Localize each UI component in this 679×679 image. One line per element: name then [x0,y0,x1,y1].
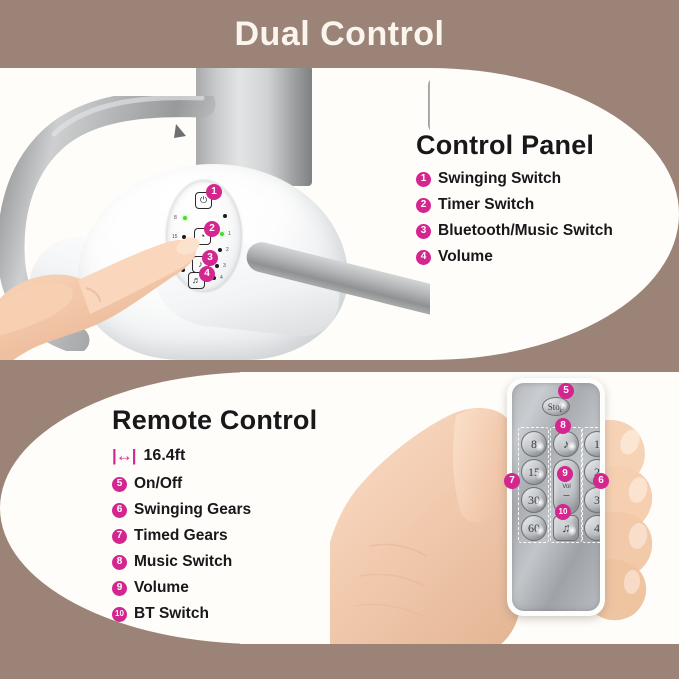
list-item: 4 Volume [416,248,613,266]
button-gloss [536,525,544,536]
timer-button-8[interactable]: 8 [521,431,547,457]
gear-tick-3: 3 [223,264,226,269]
stop-button[interactable]: Stop [542,397,570,416]
badge-6: 6 [112,503,127,518]
remote-control-text-block: Remote Control |↔| 16.4ft 5 On/Off 6 Swi… [112,405,317,631]
list-item: 2 Timer Switch [416,196,613,214]
holding-hand [330,372,679,644]
badge-9: 9 [112,581,127,596]
remote-badge-10: 10 [555,504,571,520]
badge-7: 7 [112,529,127,544]
list-item: 7 Timed Gears [112,527,317,545]
range-arrow-icon: |↔| [112,446,136,466]
timer-button-15[interactable]: 15 [521,459,547,485]
button-gloss [536,469,544,480]
music-switch-button[interactable]: ♪ [553,431,579,457]
list-item: 6 Swinging Gears [112,501,317,519]
panel-badge-2: 2 [204,221,220,237]
list-item-label: Music Switch [134,553,232,571]
control-panel-list: 1 Swinging Switch 2 Timer Switch 3 Bluet… [416,170,613,266]
remote-faceplate: Stop 8 15 30 [512,383,600,611]
control-panel-heading: Control Panel [416,130,613,161]
button-gloss [599,497,600,508]
remote-badge-9: 9 [557,466,573,482]
button-gloss [536,497,544,508]
badge-8: 8 [112,555,127,570]
timer-button-60[interactable]: 60 [521,515,547,541]
footer-band [0,644,679,679]
remote-badge-8: 8 [555,418,571,434]
list-item: 3 Bluetooth/Music Switch [416,222,613,240]
remote-badge-5: 5 [558,383,574,399]
led-gear-1 [223,214,227,218]
badge-5: 5 [112,477,127,492]
remote-device: Stop 8 15 30 [507,378,605,616]
gear-tick-1: 1 [228,232,231,237]
list-item: 8 Music Switch [112,553,317,571]
list-item-label: Volume [134,579,189,597]
list-item: 1 Swinging Switch [416,170,613,188]
infographic-stage: Dual Control [0,0,679,679]
list-item-label: Timer Switch [438,196,534,214]
button-gloss [536,441,544,452]
panel-badge-1: 1 [206,184,222,200]
remote-control-heading: Remote Control [112,405,317,436]
gear-tick-2: 2 [226,248,229,253]
volume-down-label: − [563,491,570,500]
led-gear-3 [215,264,219,268]
panel-badge-4: 4 [199,266,215,282]
list-item: 5 On/Off [112,475,317,493]
control-panel-text-block: Control Panel 1 Swinging Switch 2 Timer … [416,130,613,274]
button-gloss [559,400,567,411]
post-clip [428,76,430,134]
list-item-label: On/Off [134,475,182,493]
badge-2: 2 [416,198,431,213]
list-item-label: Timed Gears [134,527,228,545]
range-value: 16.4ft [144,447,186,465]
button-gloss [568,441,576,452]
power-icon: ⏻ [200,196,207,205]
button-gloss [568,525,576,536]
product-photo-control-panel: ⏻ 1 8 ◔ 2 15 1 30 2 ♪ [0,68,430,360]
list-item-label: BT Switch [134,605,209,623]
badge-4: 4 [416,250,431,265]
range-row: |↔| 16.4ft [112,446,317,466]
list-item: 10 BT Switch [112,605,317,623]
led-gear-2 [218,248,222,252]
button-gloss [599,525,600,536]
list-item-label: Swinging Gears [134,501,251,519]
list-item: 9 Volume [112,579,317,597]
badge-1: 1 [416,172,431,187]
led-gear-active [220,232,224,236]
list-item-label: Swinging Switch [438,170,561,188]
gear-tick-4: 4 [220,276,223,281]
remote-badge-7: 7 [504,473,520,489]
remote-control-list: 5 On/Off 6 Swinging Gears 7 Timed Gears … [112,475,317,623]
header-band: Dual Control [0,0,679,68]
list-item-label: Bluetooth/Music Switch [438,222,613,240]
timer-button-30[interactable]: 30 [521,487,547,513]
badge-3: 3 [416,224,431,239]
page-title: Dual Control [235,15,445,54]
button-gloss [599,441,600,452]
remote-badge-6: 6 [593,473,609,489]
badge-10: 10 [112,607,127,622]
panel-badge-3: 3 [202,250,218,266]
list-item-label: Volume [438,248,493,266]
remote-photo: Stop 8 15 30 [330,372,679,644]
pointing-hand [0,218,212,360]
